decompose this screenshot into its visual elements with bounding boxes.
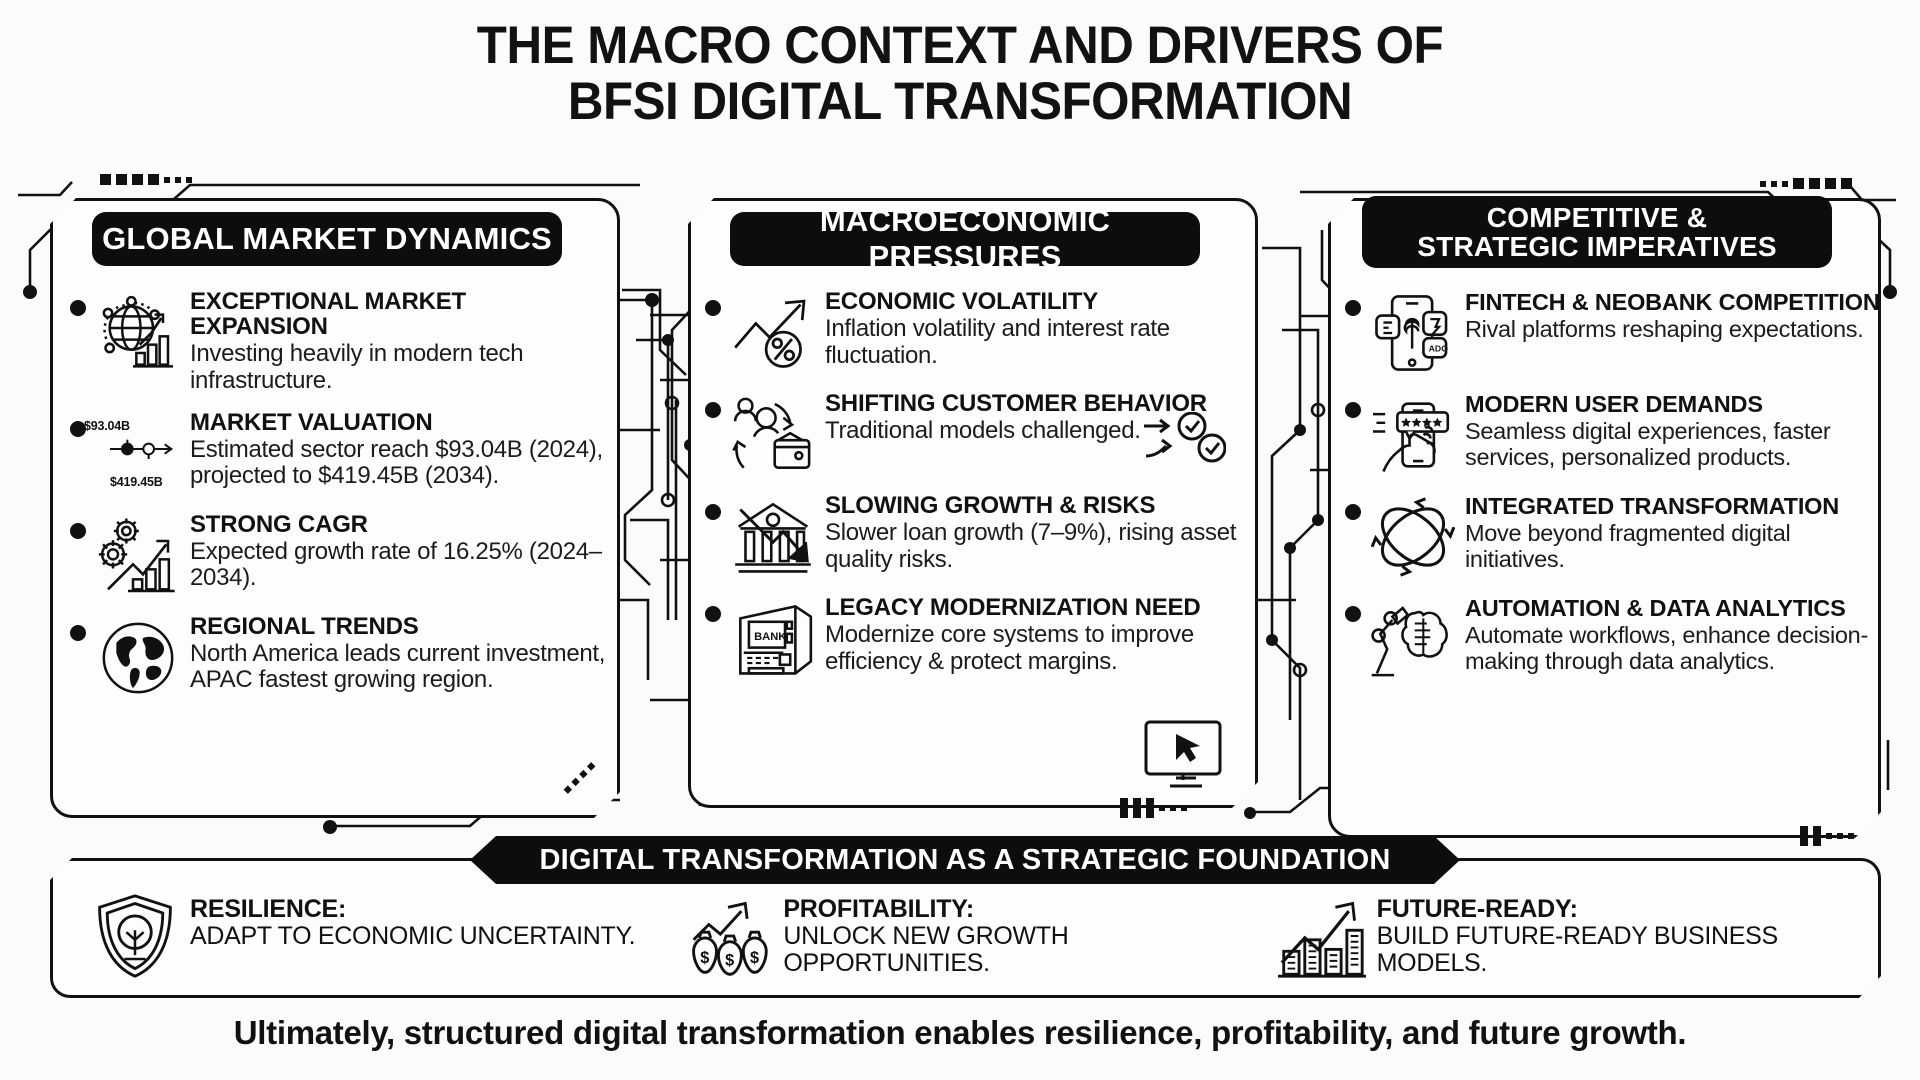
list-item[interactable]: INTEGRATED TRANSFORMATION Move beyond fr… (1345, 492, 1880, 580)
bullet-icon (1345, 504, 1361, 520)
list-item-text: SHIFTING CUSTOMER BEHAVIOR Traditional m… (825, 390, 1250, 445)
customer-wallet-cycle-icon (727, 392, 819, 478)
bank-declining-arrow-icon (727, 494, 819, 580)
list-item-text: MODERN USER DEMANDS Seamless digital exp… (1465, 390, 1880, 471)
robot-arm-brain-icon (1367, 596, 1459, 682)
title-line-1: THE MACRO CONTEXT AND DRIVERS OF (67, 18, 1853, 74)
footer-pillar-desc: BUILD FUTURE-READY BUSINESS MODELS. (1377, 923, 1860, 977)
footer-pillars: RESILIENCE: ADAPT TO ECONOMIC UNCERTAINT… (80, 890, 1860, 990)
list-item-text: LEGACY MODERNIZATION NEED Modernize core… (825, 594, 1250, 676)
list-item[interactable]: STRONG CAGR Expected growth rate of 16.2… (70, 511, 610, 599)
gears-growth-arrow-icon (92, 513, 184, 599)
list-item[interactable]: ADO FINTECH & NEOBANK COMPETITION Rival … (1345, 288, 1880, 376)
list-item-title: MODERN USER DEMANDS (1465, 391, 1763, 417)
footer-pillar[interactable]: $ $ $ PROFITABILITY: UNLOCK NEW GROWTH O… (673, 890, 1266, 990)
bullet-icon (70, 523, 86, 539)
page-title: THE MACRO CONTEXT AND DRIVERS OF BFSI DI… (0, 18, 1920, 130)
svg-text:ADO: ADO (1429, 343, 1449, 353)
list-item-text: ECONOMIC VOLATILITY Inflation volatility… (825, 288, 1250, 370)
footer-pillar-title: PROFITABILITY: (783, 896, 1266, 923)
list-item-desc: Seamless digital experiences, faster ser… (1465, 418, 1880, 471)
item-list-macroeconomic-pressures: ECONOMIC VOLATILITY Inflation volatility… (705, 288, 1250, 696)
list-item[interactable]: ECONOMIC VOLATILITY Inflation volatility… (705, 288, 1250, 376)
svg-text:$: $ (725, 952, 734, 970)
chip-decor-mid-bottom (1120, 798, 1187, 818)
bullet-icon (705, 504, 721, 520)
list-item-text: FINTECH & NEOBANK COMPETITION Rival plat… (1465, 288, 1880, 342)
column-header-competitive-strategic-imperatives[interactable]: COMPETITIVE & STRATEGIC IMPERATIVES (1362, 196, 1832, 268)
list-item[interactable]: REGIONAL TRENDS North America leads curr… (70, 613, 610, 701)
list-item-text: REGIONAL TRENDS North America leads curr… (190, 613, 610, 695)
svg-text:$: $ (701, 949, 710, 967)
list-item[interactable]: BANK LEGACY MODERNIZATION NEED Modernize… (705, 594, 1250, 682)
list-item-desc: Inflation volatility and interest rate f… (825, 316, 1250, 370)
item-list-competitive-strategic-imperatives: ADO FINTECH & NEOBANK COMPETITION Rival … (1345, 288, 1880, 696)
chip-decor-top-right (1760, 178, 1852, 189)
footer-pillar-title: RESILIENCE: (190, 896, 635, 923)
list-item-title: ECONOMIC VOLATILITY (825, 288, 1098, 315)
list-item-title: MARKET VALUATION (190, 409, 433, 436)
list-item-title: REGIONAL TRENDS (190, 613, 419, 640)
list-item-title: SLOWING GROWTH & RISKS (825, 492, 1155, 519)
list-item-desc: Traditional models challenged. (825, 418, 1250, 445)
interlocking-rings-icon (1367, 494, 1459, 580)
list-item-desc: Expected growth rate of 16.25% (2024–203… (190, 539, 610, 593)
column-header-line-2: STRATEGIC IMPERATIVES (1417, 232, 1776, 261)
shield-tree-icon (80, 890, 190, 982)
list-item-title: FINTECH & NEOBANK COMPETITION (1465, 289, 1880, 315)
hand-phone-rating-icon (1367, 392, 1459, 478)
globe-growth-chart-icon (92, 290, 184, 376)
list-item-text: AUTOMATION & DATA ANALYTICS Automate wor… (1465, 594, 1880, 675)
bullet-icon (705, 300, 721, 316)
list-item-desc: Rival platforms reshaping expectations. (1465, 316, 1880, 342)
money-bags-growth-icon: $ $ $ (673, 890, 783, 982)
list-item-text: STRONG CAGR Expected growth rate of 16.2… (190, 511, 610, 593)
list-item-desc: Estimated sector reach $93.04B (2024), p… (190, 437, 610, 491)
bullet-icon (70, 300, 86, 316)
list-item-title: STRONG CAGR (190, 511, 368, 538)
footer-pillar-desc: ADAPT TO ECONOMIC UNCERTAINTY. (190, 923, 635, 950)
valuation-start-label: $93.04B (84, 419, 130, 433)
item-list-global-market-dynamics: EXCEPTIONAL MARKET EXPANSION Investing h… (70, 288, 610, 715)
list-item-desc: Modernize core systems to improve effici… (825, 622, 1250, 676)
list-item-desc: Automate workflows, enhance decision-mak… (1465, 622, 1880, 675)
list-item[interactable]: EXCEPTIONAL MARKET EXPANSION Investing h… (70, 288, 610, 395)
footer-pillar-title: FUTURE-READY: (1377, 896, 1860, 923)
column-header-macroeconomic-pressures[interactable]: MACROECONOMIC PRESSURES (730, 212, 1200, 266)
list-item[interactable]: MODERN USER DEMANDS Seamless digital exp… (1345, 390, 1880, 478)
bullet-icon (705, 402, 721, 418)
arrow-up-percent-icon (727, 290, 819, 376)
list-item-title: LEGACY MODERNIZATION NEED (825, 594, 1200, 621)
list-item-title: INTEGRATED TRANSFORMATION (1465, 493, 1839, 519)
monitor-cursor-decor-icon (1140, 718, 1232, 794)
list-item[interactable]: SHIFTING CUSTOMER BEHAVIOR Traditional m… (705, 390, 1250, 478)
list-item-title: AUTOMATION & DATA ANALYTICS (1465, 595, 1846, 621)
bullet-icon (705, 606, 721, 622)
tagline: Ultimately, structured digital transform… (0, 1014, 1920, 1052)
list-item[interactable]: $93.04B $419.45B MARKET VALUATION Estima… (70, 409, 610, 497)
title-line-2: BFSI DIGITAL TRANSFORMATION (67, 74, 1853, 130)
column-header-line-1: COMPETITIVE & (1487, 203, 1707, 232)
bullet-icon (1345, 402, 1361, 418)
bullet-icon (70, 625, 86, 641)
bullet-icon (1345, 606, 1361, 622)
column-header-global-market-dynamics[interactable]: GLOBAL MARKET DYNAMICS (92, 212, 562, 266)
list-item[interactable]: AUTOMATION & DATA ANALYTICS Automate wor… (1345, 594, 1880, 682)
svg-text:$: $ (750, 949, 759, 967)
mobile-fintech-apps-icon: ADO (1367, 290, 1459, 376)
chip-decor-right-bottom (1800, 826, 1854, 846)
list-item[interactable]: SLOWING GROWTH & RISKS Slower loan growt… (705, 492, 1250, 580)
list-item-title: EXCEPTIONAL MARKET EXPANSION (190, 288, 466, 340)
infographic-root: THE MACRO CONTEXT AND DRIVERS OF BFSI DI… (0, 0, 1920, 1080)
list-item-text: EXCEPTIONAL MARKET EXPANSION Investing h… (190, 288, 610, 395)
list-item-desc: Investing heavily in modern tech infrast… (190, 341, 610, 395)
footer-pillar[interactable]: RESILIENCE: ADAPT TO ECONOMIC UNCERTAINT… (80, 890, 673, 990)
footer-pillar-text: RESILIENCE: ADAPT TO ECONOMIC UNCERTAINT… (190, 890, 635, 950)
list-item-desc: Slower loan growth (7–9%), rising asset … (825, 520, 1250, 574)
list-item-title: SHIFTING CUSTOMER BEHAVIOR (825, 390, 1207, 417)
chip-decor-top-left (100, 174, 192, 185)
list-item-text: INTEGRATED TRANSFORMATION Move beyond fr… (1465, 492, 1880, 573)
market-valuation-scale-icon: $93.04B $419.45B (92, 411, 184, 497)
bar-chart-arrow-icon (1267, 890, 1377, 982)
valuation-end-label: $419.45B (110, 475, 163, 489)
list-item-desc: North America leads current investment, … (190, 641, 610, 695)
footer-pillar[interactable]: FUTURE-READY: BUILD FUTURE-READY BUSINES… (1267, 890, 1860, 990)
list-item-text: SLOWING GROWTH & RISKS Slower loan growt… (825, 492, 1250, 574)
footer-pillar-desc: UNLOCK NEW GROWTH OPPORTUNITIES. (783, 923, 1266, 977)
footer-pillar-text: PROFITABILITY: UNLOCK NEW GROWTH OPPORTU… (783, 890, 1266, 977)
bullet-icon (1345, 300, 1361, 316)
legacy-atm-terminal-icon: BANK (727, 596, 819, 682)
list-item-text: MARKET VALUATION Estimated sector reach … (190, 409, 610, 491)
svg-text:BANK: BANK (754, 631, 786, 643)
list-item-desc: Move beyond fragmented digital initiativ… (1465, 520, 1880, 573)
footer-banner[interactable]: DIGITAL TRANSFORMATION AS A STRATEGIC FO… (470, 836, 1460, 884)
footer-pillar-text: FUTURE-READY: BUILD FUTURE-READY BUSINES… (1377, 890, 1860, 977)
globe-earth-icon (92, 615, 184, 701)
